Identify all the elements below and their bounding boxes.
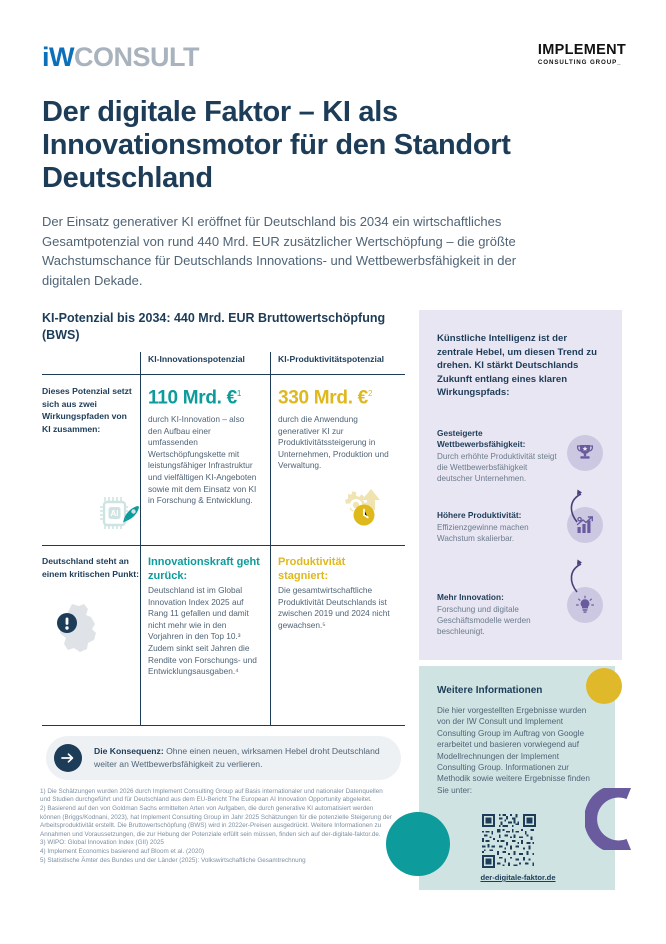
impact-step-innovation: Mehr Innovation: Forschung und digitale … [437,592,561,637]
impact-step-competitiveness: Gesteigerte Wettbewerbsfähigkeit: Durch … [437,428,561,484]
productivity-description: durch die Anwendung generativer KI zur P… [278,414,390,472]
decorative-gold-circle [586,668,622,704]
consequence-text: Die Konsequenz: Ohne einen neuen, wirksa… [94,745,389,770]
table-divider-2 [270,352,271,725]
productivity-value-footnote-marker: 2 [368,389,372,398]
consequence-lead: Die Konsequenz: [94,746,164,756]
table-rule-mid [42,545,405,546]
impact-step-1-title: Gesteigerte Wettbewerbsfähigkeit: [437,428,561,450]
more-info-body: Die hier vorgestellten Ergebnisse wurden… [437,705,597,796]
iw-consult-logo: iWCONSULT [42,42,199,73]
more-info-link[interactable]: der-digitale-faktor.de [463,873,573,882]
flow-arrows [561,460,597,600]
innovation-value: 110 Mrd. €1 [148,383,241,409]
potential-section-title: KI-Potenzial bis 2034: 440 Mrd. EUR Brut… [42,310,402,343]
impact-step-2-title: Höhere Produktivität: [437,510,561,521]
productivity-stagnation-heading: Produktivität stagniert: [278,555,390,583]
impact-step-3-title: Mehr Innovation: [437,592,561,603]
implement-consulting-logo: IMPLEMENT CONSULTING GROUP_ [538,42,626,66]
consequence-banner: Die Konsequenz: Ohne einen neuen, wirksa… [46,736,401,780]
table-rule-bottom [42,725,405,726]
table-rule-top [42,374,405,375]
innovation-description: durch KI-Innovation – also den Aufbau ei… [148,414,260,507]
impact-step-3-text: Forschung und digitale Geschäftsmodelle … [437,604,561,637]
innovation-value-footnote-marker: 1 [237,389,241,398]
implement-logo-line2: CONSULTING GROUP_ [538,59,626,66]
page-title: Der digitale Faktor – KI als Innovations… [42,96,602,195]
column-header-productivity: KI-Produktivitätspotenzial [278,354,384,364]
more-info-title: Weitere Informationen [437,685,542,696]
row1-label: Dieses Potenzial setzt sich aus zwei Wir… [42,385,134,435]
svg-text:AI: AI [111,509,119,518]
iw-logo-word: CONSULT [74,42,199,72]
ai-chip-rocket-icon: AI [96,492,144,541]
arrow-right-icon [54,744,82,772]
footnote-4: 4) Implement Economics basierend auf Blo… [40,848,392,856]
impact-panel: Künstliche Intelligenz ist der zentrale … [419,310,622,660]
implement-logo-line1: IMPLEMENT [538,42,626,58]
gear-clock-growth-icon [330,480,386,543]
innovation-decline-text: Deutschland ist im Global Innovation Ind… [148,585,262,678]
decorative-purple-ring [585,788,647,850]
row2-label: Deutschland steht an einem kritischen Pu… [42,555,140,580]
qr-code-icon[interactable] [482,814,536,868]
productivity-stagnation-text: Die gesamtwirtschaftliche Produktivität … [278,585,393,631]
footnote-2: 2) Basierend auf den von Goldman Sachs e… [40,805,392,839]
impact-step-1-text: Durch erhöhte Produktivität steigt die W… [437,451,561,484]
footnote-5: 5) Statistische Ämter des Bundes und der… [40,857,392,865]
more-info-panel: Weitere Informationen Die hier vorgestel… [419,666,615,890]
impact-panel-headline: Künstliche Intelligenz ist der zentrale … [437,332,605,400]
footnote-1: 1) Die Schätzungen wurden 2026 durch Imp… [40,788,392,805]
footnotes: 1) Die Schätzungen wurden 2026 durch Imp… [40,788,392,866]
column-header-innovation: KI-Innovationspotenzial [148,354,245,364]
productivity-value: 330 Mrd. €2 [278,383,372,409]
iw-logo-mark: iW [42,42,74,72]
infographic-page: iWCONSULT IMPLEMENT CONSULTING GROUP_ De… [0,0,666,944]
impact-step-2-text: Effizienzgewinne machen Wachstum skalier… [437,522,561,544]
impact-step-productivity: Höhere Produktivität: Effizienzgewinne m… [437,510,561,544]
footnote-3: 3) WIPO: Global Innovation Index (GII) 2… [40,839,392,847]
intro-paragraph: Der Einsatz generativer KI eröffnet für … [42,212,567,290]
germany-map-warning-icon [50,600,108,667]
innovation-decline-heading: Innovationskraft geht zurück: [148,555,260,583]
decorative-teal-circle [386,812,450,876]
